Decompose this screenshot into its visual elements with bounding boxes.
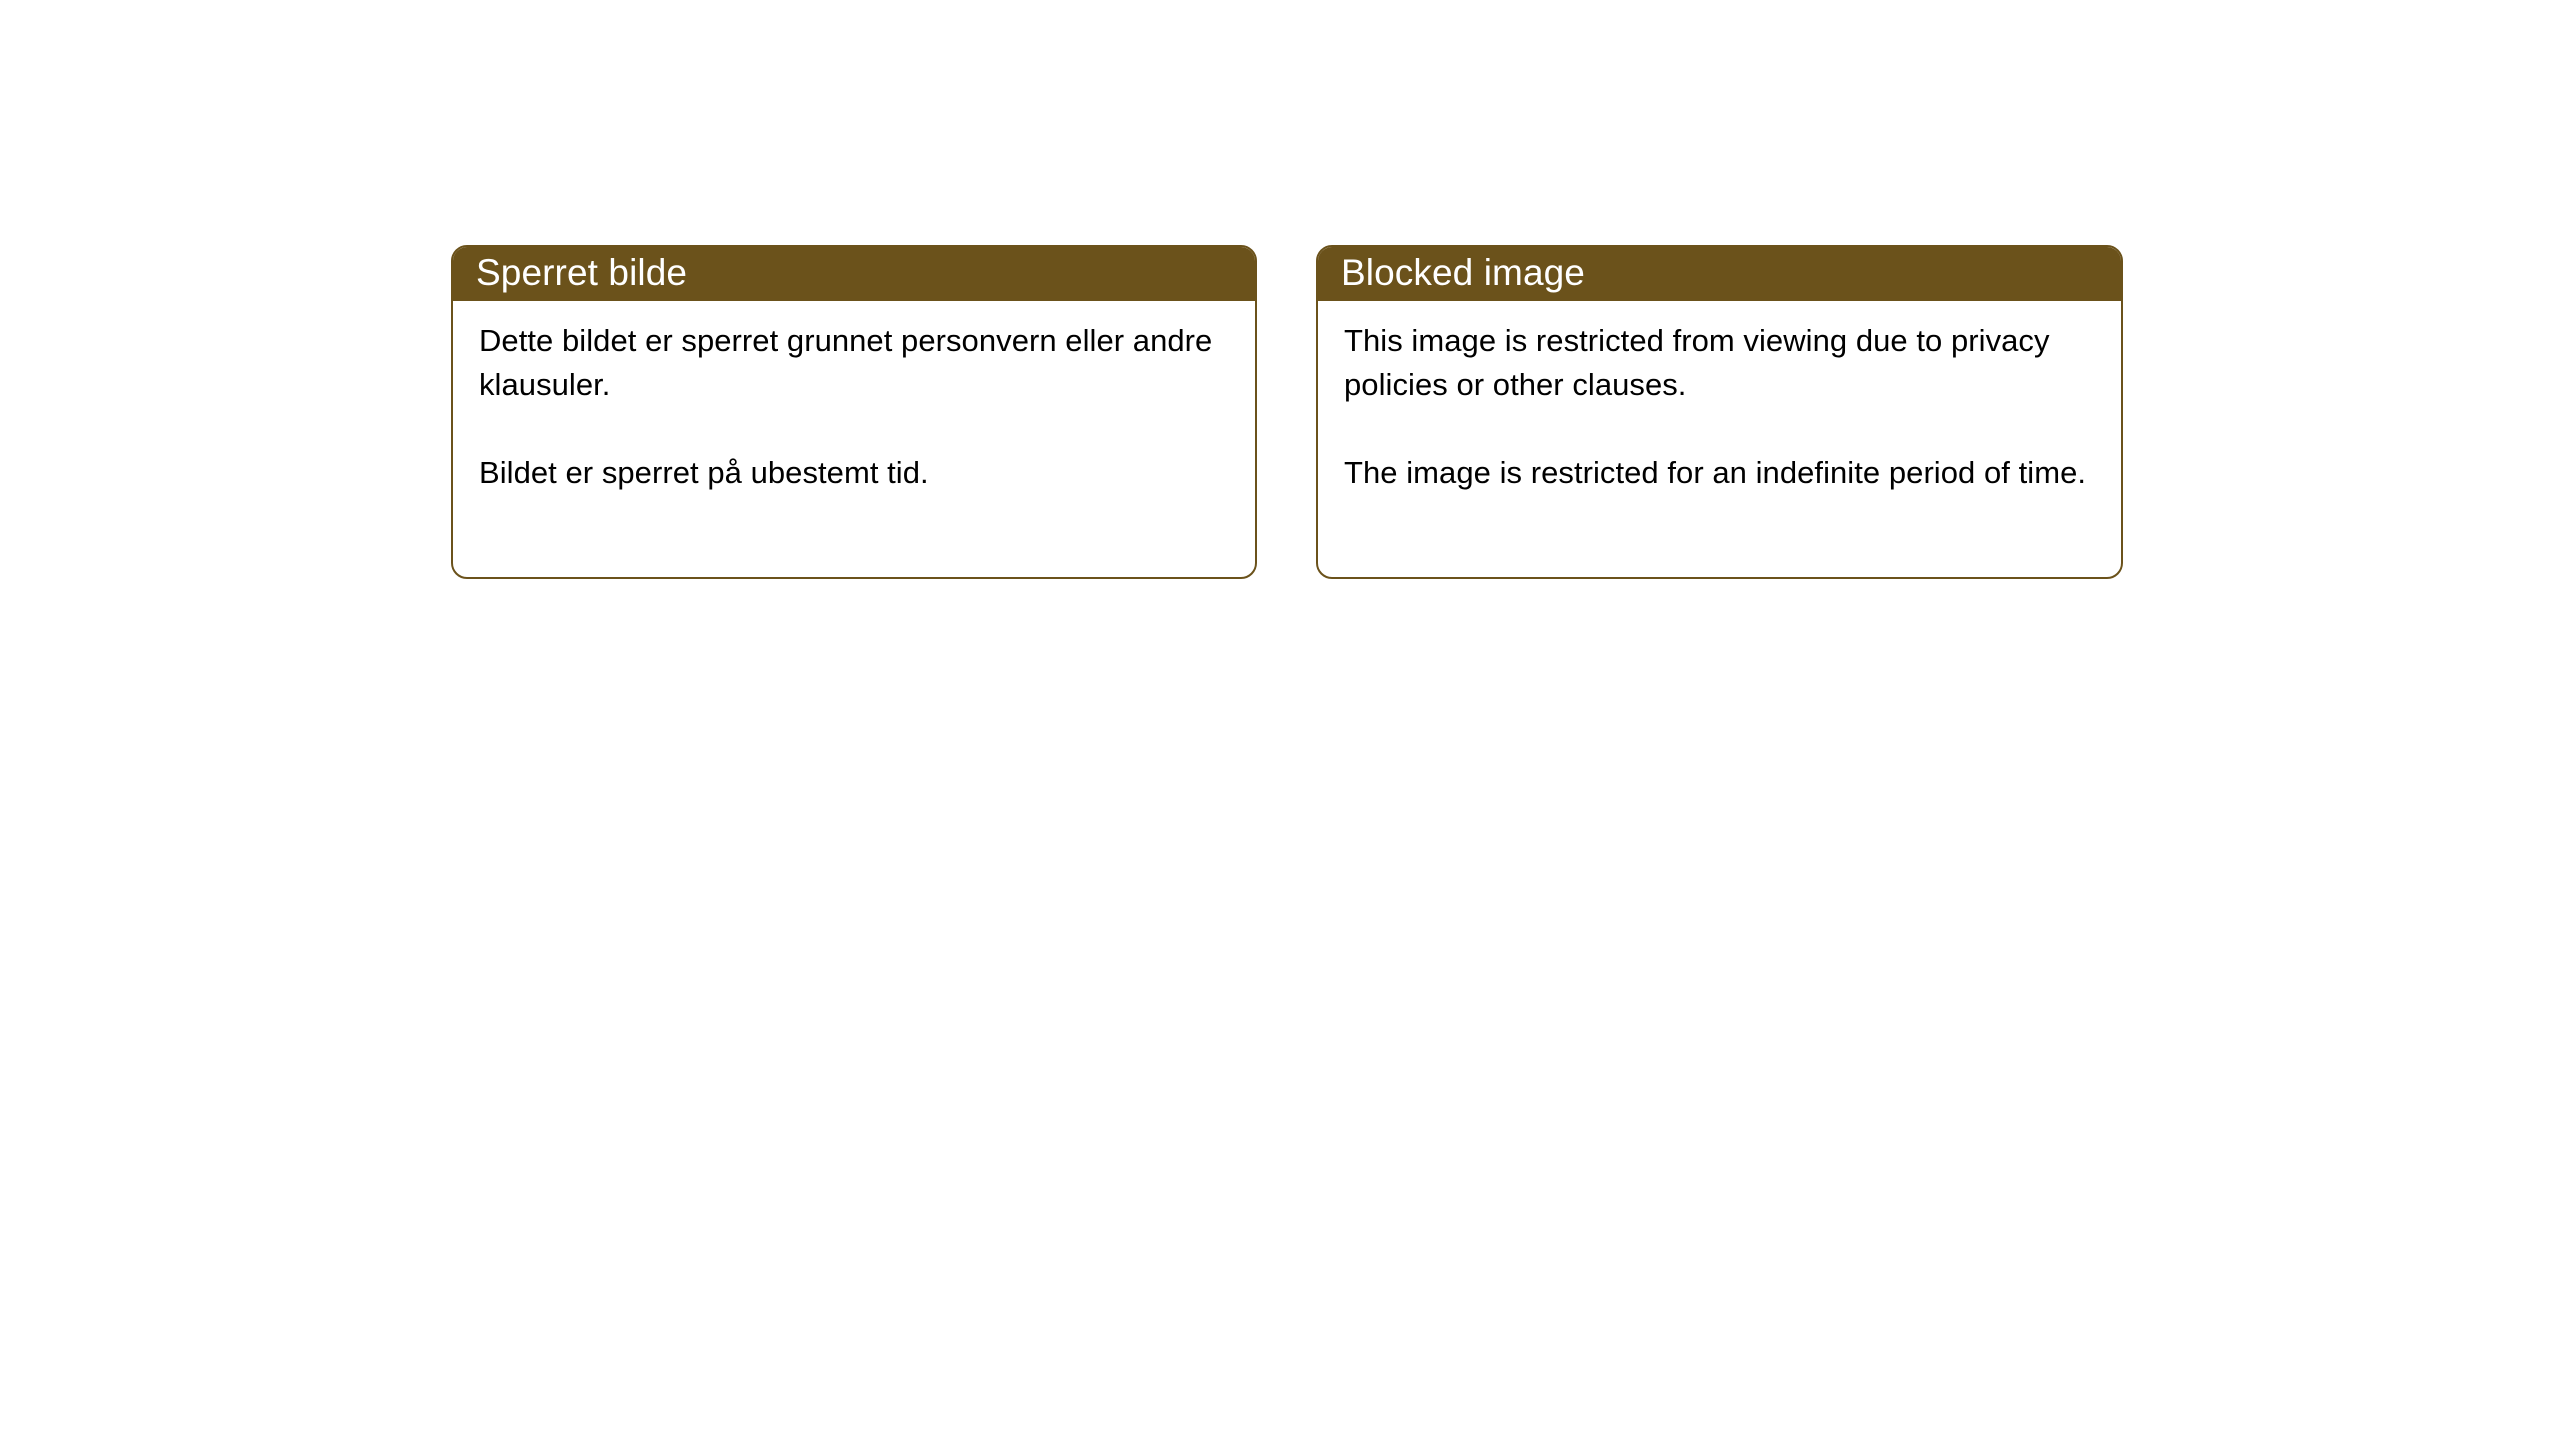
blocked-image-notice-english: Blocked image This image is restricted f… xyxy=(1316,245,2123,579)
notice-paragraph-reason-english: This image is restricted from viewing du… xyxy=(1344,319,2095,407)
notice-paragraph-duration-norwegian: Bildet er sperret på ubestemt tid. xyxy=(479,451,1229,495)
notice-title-english: Blocked image xyxy=(1341,251,1585,295)
blocked-image-notice-norwegian: Sperret bilde Dette bildet er sperret gr… xyxy=(451,245,1257,579)
page-root: Sperret bilde Dette bildet er sperret gr… xyxy=(0,0,2560,1440)
notice-paragraph-reason-norwegian: Dette bildet er sperret grunnet personve… xyxy=(479,319,1229,407)
notice-body-norwegian: Dette bildet er sperret grunnet personve… xyxy=(453,301,1255,495)
notice-header-norwegian: Sperret bilde xyxy=(451,245,1257,301)
notice-body-english: This image is restricted from viewing du… xyxy=(1318,301,2121,495)
notice-title-norwegian: Sperret bilde xyxy=(476,251,687,295)
notice-header-english: Blocked image xyxy=(1316,245,2123,301)
notice-paragraph-duration-english: The image is restricted for an indefinit… xyxy=(1344,451,2095,495)
